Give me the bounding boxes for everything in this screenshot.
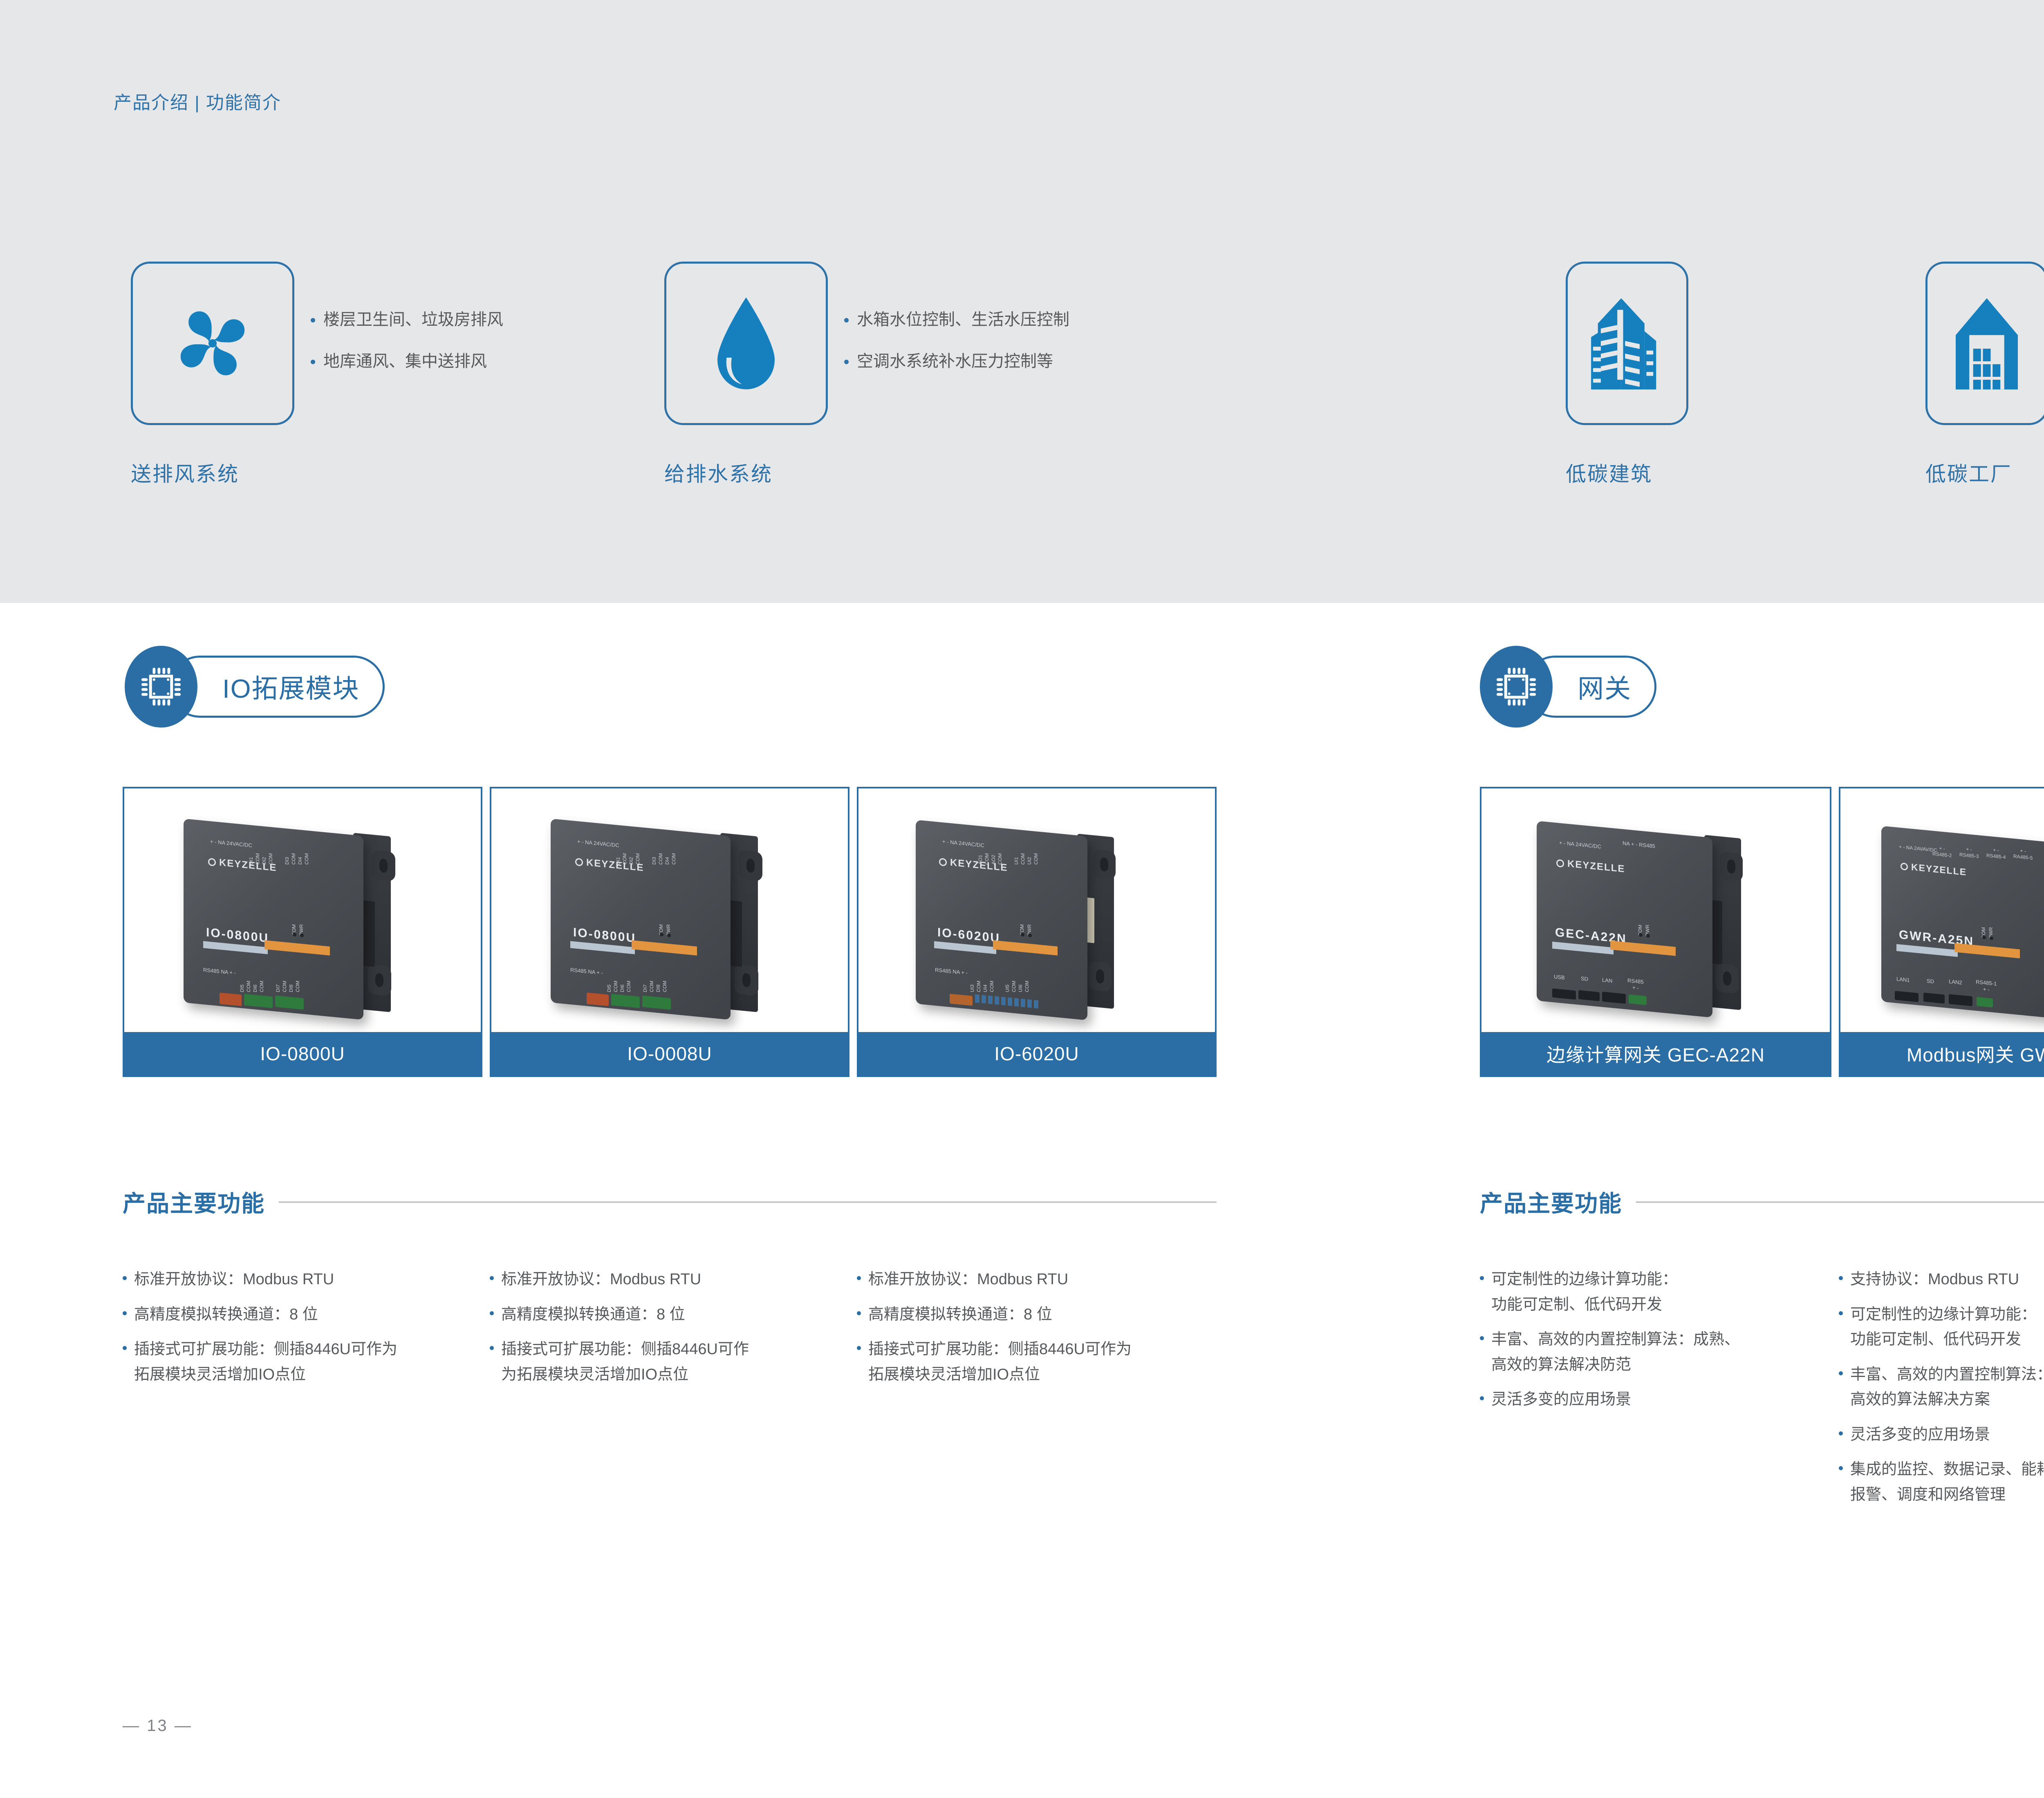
bullet-dot (490, 1346, 494, 1350)
bullet-dot (844, 360, 849, 364)
list-item: 集成的监控、数据记录、能耗计量、 报警、调度和网络管理 (1839, 1457, 2044, 1507)
section-pill-body: IO拓展模块 (169, 656, 385, 718)
heading-rule (1636, 1202, 2044, 1202)
product-card[interactable]: + - NA 24VAC/DC KEYZELLE AO1 COM AO2 COM… (857, 787, 1217, 1077)
feature-column: 标准开放协议：Modbus RTU 高精度模拟转换通道：8 位 插接式可扩展功能… (123, 1267, 466, 1397)
list-item: 空调水系统补水压力控制等 (844, 352, 1069, 370)
fan-caption: 送排风系统 (131, 458, 239, 487)
bullet-dot (857, 1311, 861, 1315)
feature-text: 高精度模拟转换通道：8 位 (868, 1302, 1052, 1328)
list-item: 可定制性的边缘计算功能： 功能可定制、低代码开发 (1480, 1267, 1815, 1317)
feature-text: 丰富、高效的内置控制算法：成熟、 高效的算法解决防范 (1491, 1327, 1740, 1377)
list-item: 高精度模拟转换通道：8 位 (123, 1302, 466, 1328)
water-drop-icon (703, 292, 789, 394)
bullet-text: 空调水系统补水压力控制等 (857, 352, 1053, 370)
water-icon-box (664, 262, 828, 425)
product-card[interactable]: + - NA 2AVAV/DC + -RS485-2 + -RS485-3 + … (1839, 787, 2044, 1077)
list-item: 标准开放协议：Modbus RTU (123, 1267, 466, 1292)
low-carbon-building-icon-box (1566, 262, 1688, 425)
feature-text: 标准开放协议：Modbus RTU (134, 1267, 334, 1292)
product-image: + - NA 24VAC/DC KEYZELLE AO1 COM AO2 COM… (858, 788, 1215, 1032)
feature-column: 标准开放协议：Modbus RTU 高精度模拟转换通道：8 位 插接式可扩展功能… (857, 1267, 1200, 1397)
fan-icon-box (131, 262, 294, 425)
application-scenarios: 送排风系统 楼层卫生间、垃圾房排风 地库通风、集中送排风 给排水系统 水箱水位控… (0, 0, 2044, 603)
fan-icon (166, 296, 260, 390)
list-item: 高精度模拟转换通道：8 位 (857, 1302, 1200, 1328)
product-image: + - NA 2AVAV/DC + -RS485-2 + -RS485-3 + … (1840, 788, 2044, 1032)
bullet-dot (1480, 1336, 1484, 1340)
features-title: 产品主要功能 (123, 1185, 265, 1218)
feature-column: 支持协议：Modbus RTU 可定制性的边缘计算功能： 功能可定制、低代码开发… (1839, 1267, 2044, 1517)
feature-text: 灵活多变的应用场景 (1491, 1387, 1631, 1413)
list-item: 插接式可扩展功能：侧插8446U可作为 拓展模块灵活增加IO点位 (857, 1337, 1200, 1387)
bullet-dot (311, 360, 315, 364)
product-label: IO-6020U (858, 1032, 1215, 1075)
bullet-dot (844, 318, 849, 322)
low-carbon-building-caption: 低碳建筑 (1566, 458, 1652, 487)
features-title: 产品主要功能 (1480, 1185, 1622, 1218)
section-label-gateway: 网关 (1578, 668, 1632, 705)
page-number-left: — 13 — (123, 1717, 193, 1735)
water-bullets: 水箱水位控制、生活水压控制 空调水系统补水压力控制等 (844, 311, 1069, 394)
bullet-dot (1839, 1371, 1843, 1375)
features-heading-io: 产品主要功能 (123, 1185, 1217, 1218)
feature-text: 支持协议：Modbus RTU (1850, 1267, 2019, 1292)
features-heading-gateway: 产品主要功能 (1480, 1185, 2044, 1218)
list-item: 灵活多变的应用场景 (1839, 1422, 2044, 1448)
device-io-6020u: + - NA 24VAC/DC KEYZELLE AO1 COM AO2 COM… (901, 811, 1179, 1032)
list-item: 水箱水位控制、生活水压控制 (844, 311, 1069, 329)
bullet-text: 楼层卫生间、垃圾房排风 (323, 311, 503, 329)
device-io-0008u: + - NA 24VAC/DC KEYZELLE DI1 COM DI2 COM… (534, 815, 812, 1028)
fan-bullets: 楼层卫生间、垃圾房排风 地库通风、集中送排风 (311, 311, 503, 394)
factory-icon (1948, 292, 2026, 394)
bullet-text: 水箱水位控制、生活水压控制 (857, 311, 1069, 329)
bullet-dot (857, 1276, 861, 1280)
bullet-dot (123, 1346, 127, 1350)
feature-text: 高精度模拟转换通道：8 位 (501, 1302, 685, 1328)
product-label: IO-0800U (124, 1032, 481, 1075)
feature-text: 集成的监控、数据记录、能耗计量、 报警、调度和网络管理 (1850, 1457, 2044, 1507)
product-label: Modbus网关 GWR-A25N (1840, 1032, 2044, 1075)
bullet-dot (1839, 1466, 1843, 1470)
list-item: 标准开放协议：Modbus RTU (490, 1267, 833, 1292)
product-card[interactable]: + - NA 24VAC/DC NA + - RS485 KEYZELLE GE… (1480, 787, 1831, 1077)
feature-text: 高精度模拟转换通道：8 位 (134, 1302, 318, 1328)
product-image: + - NA 24VAC/DC NA + - RS485 KEYZELLE GE… (1481, 788, 1830, 1032)
feature-text: 可定制性的边缘计算功能： 功能可定制、低代码开发 (1491, 1267, 1678, 1317)
low-carbon-factory-caption: 低碳工厂 (1925, 458, 2012, 487)
bullet-dot (1839, 1276, 1843, 1280)
feature-text: 标准开放协议：Modbus RTU (501, 1267, 701, 1292)
list-item: 插接式可扩展功能：侧插8446U可作 为拓展模块灵活增加IO点位 (490, 1337, 833, 1387)
feature-text: 标准开放协议：Modbus RTU (868, 1267, 1068, 1292)
water-caption: 给排水系统 (664, 458, 773, 487)
list-item: 楼层卫生间、垃圾房排风 (311, 311, 503, 329)
product-image: + - NA 24VAC/DC KEYZELLE DI1 COM DI2 COM… (491, 788, 848, 1032)
device-io-0800u: + - NA 24VAC/DC KEYZELLE DI1 COM DI2 COM… (167, 815, 445, 1028)
bullet-dot (1480, 1396, 1484, 1400)
feature-text: 插接式可扩展功能：侧插8446U可作 为拓展模块灵活增加IO点位 (501, 1337, 749, 1387)
low-carbon-factory-icon-box (1925, 262, 2044, 425)
bullet-text: 地库通风、集中送排风 (323, 352, 487, 370)
list-item: 丰富、高效的内置控制算法：成熟、 高效的算法解决方案 (1839, 1362, 2044, 1413)
list-item: 支持协议：Modbus RTU (1839, 1267, 2044, 1292)
feature-text: 可定制性的边缘计算功能： 功能可定制、低代码开发 (1850, 1302, 2037, 1352)
heading-rule (279, 1202, 1217, 1202)
bullet-dot (311, 318, 315, 322)
office-buildings-icon (1588, 292, 1666, 394)
list-item: 灵活多变的应用场景 (1480, 1387, 1815, 1413)
feature-column: 可定制性的边缘计算功能： 功能可定制、低代码开发 丰富、高效的内置控制算法：成熟… (1480, 1267, 1815, 1422)
bullet-dot (490, 1311, 494, 1315)
product-image: + - NA 24VAC/DC KEYZELLE DI1 COM DI2 COM… (124, 788, 481, 1032)
list-item: 可定制性的边缘计算功能： 功能可定制、低代码开发 (1839, 1302, 2044, 1352)
list-item: 地库通风、集中送排风 (311, 352, 503, 370)
chip-icon-circle-io (125, 646, 197, 728)
feature-text: 丰富、高效的内置控制算法：成熟、 高效的算法解决方案 (1850, 1362, 2044, 1413)
list-item: 标准开放协议：Modbus RTU (857, 1267, 1200, 1292)
list-item: 丰富、高效的内置控制算法：成熟、 高效的算法解决防范 (1480, 1327, 1815, 1377)
bullet-dot (123, 1311, 127, 1315)
device-gwr-a25n: + - NA 2AVAV/DC + -RS485-2 + -RS485-3 + … (1871, 813, 2044, 1030)
chip-icon (1494, 664, 1539, 709)
product-card[interactable]: + - NA 24VAC/DC KEYZELLE DI1 COM DI2 COM… (490, 787, 849, 1077)
product-label: IO-0008U (491, 1032, 848, 1075)
chip-icon-circle-gateway (1480, 646, 1553, 728)
bullet-dot (123, 1276, 127, 1280)
feature-text: 插接式可扩展功能：侧插8446U可作为 拓展模块灵活增加IO点位 (868, 1337, 1132, 1387)
bullet-dot (1839, 1311, 1843, 1315)
list-item: 插接式可扩展功能：侧插8446U可作为 拓展模块灵活增加IO点位 (123, 1337, 466, 1387)
chip-icon (139, 664, 184, 709)
bullet-dot (1480, 1276, 1484, 1280)
product-label: 边缘计算网关 GEC-A22N (1481, 1032, 1830, 1075)
feature-text: 灵活多变的应用场景 (1850, 1422, 1990, 1448)
section-label-io: IO拓展模块 (222, 668, 360, 705)
device-gec-a22n: + - NA 24VAC/DC NA + - RS485 KEYZELLE GE… (1520, 813, 1794, 1030)
feature-column: 标准开放协议：Modbus RTU 高精度模拟转换通道：8 位 插接式可扩展功能… (490, 1267, 833, 1397)
list-item: 高精度模拟转换通道：8 位 (490, 1302, 833, 1328)
product-card[interactable]: + - NA 24VAC/DC KEYZELLE DI1 COM DI2 COM… (123, 787, 482, 1077)
bullet-dot (1839, 1431, 1843, 1435)
feature-text: 插接式可扩展功能：侧插8446U可作为 拓展模块灵活增加IO点位 (134, 1337, 397, 1387)
bullet-dot (490, 1276, 494, 1280)
bullet-dot (857, 1346, 861, 1350)
